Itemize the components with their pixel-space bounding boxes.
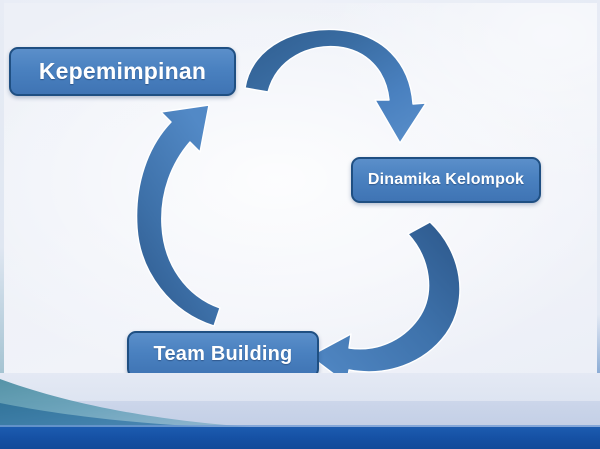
slide-top-edge <box>0 0 600 3</box>
slide-footer <box>0 373 600 449</box>
node-kepemimpinan-label: Kepemimpinan <box>39 58 206 85</box>
footer-band-bottom <box>0 427 600 449</box>
node-team-building[interactable]: Team Building <box>127 331 319 378</box>
slide-canvas: Kepemimpinan Dinamika Kelompok Team Buil… <box>0 0 600 449</box>
node-dinamika-kelompok[interactable]: Dinamika Kelompok <box>351 157 541 203</box>
arrow-dinamika-to-team <box>310 222 460 384</box>
node-dinamika-kelompok-label: Dinamika Kelompok <box>368 171 524 189</box>
arrow-team-to-kepemimpinan <box>137 105 220 326</box>
arrow-kepemimpinan-to-dinamika <box>245 29 426 143</box>
node-kepemimpinan[interactable]: Kepemimpinan <box>9 47 236 96</box>
node-team-building-label: Team Building <box>154 343 293 366</box>
